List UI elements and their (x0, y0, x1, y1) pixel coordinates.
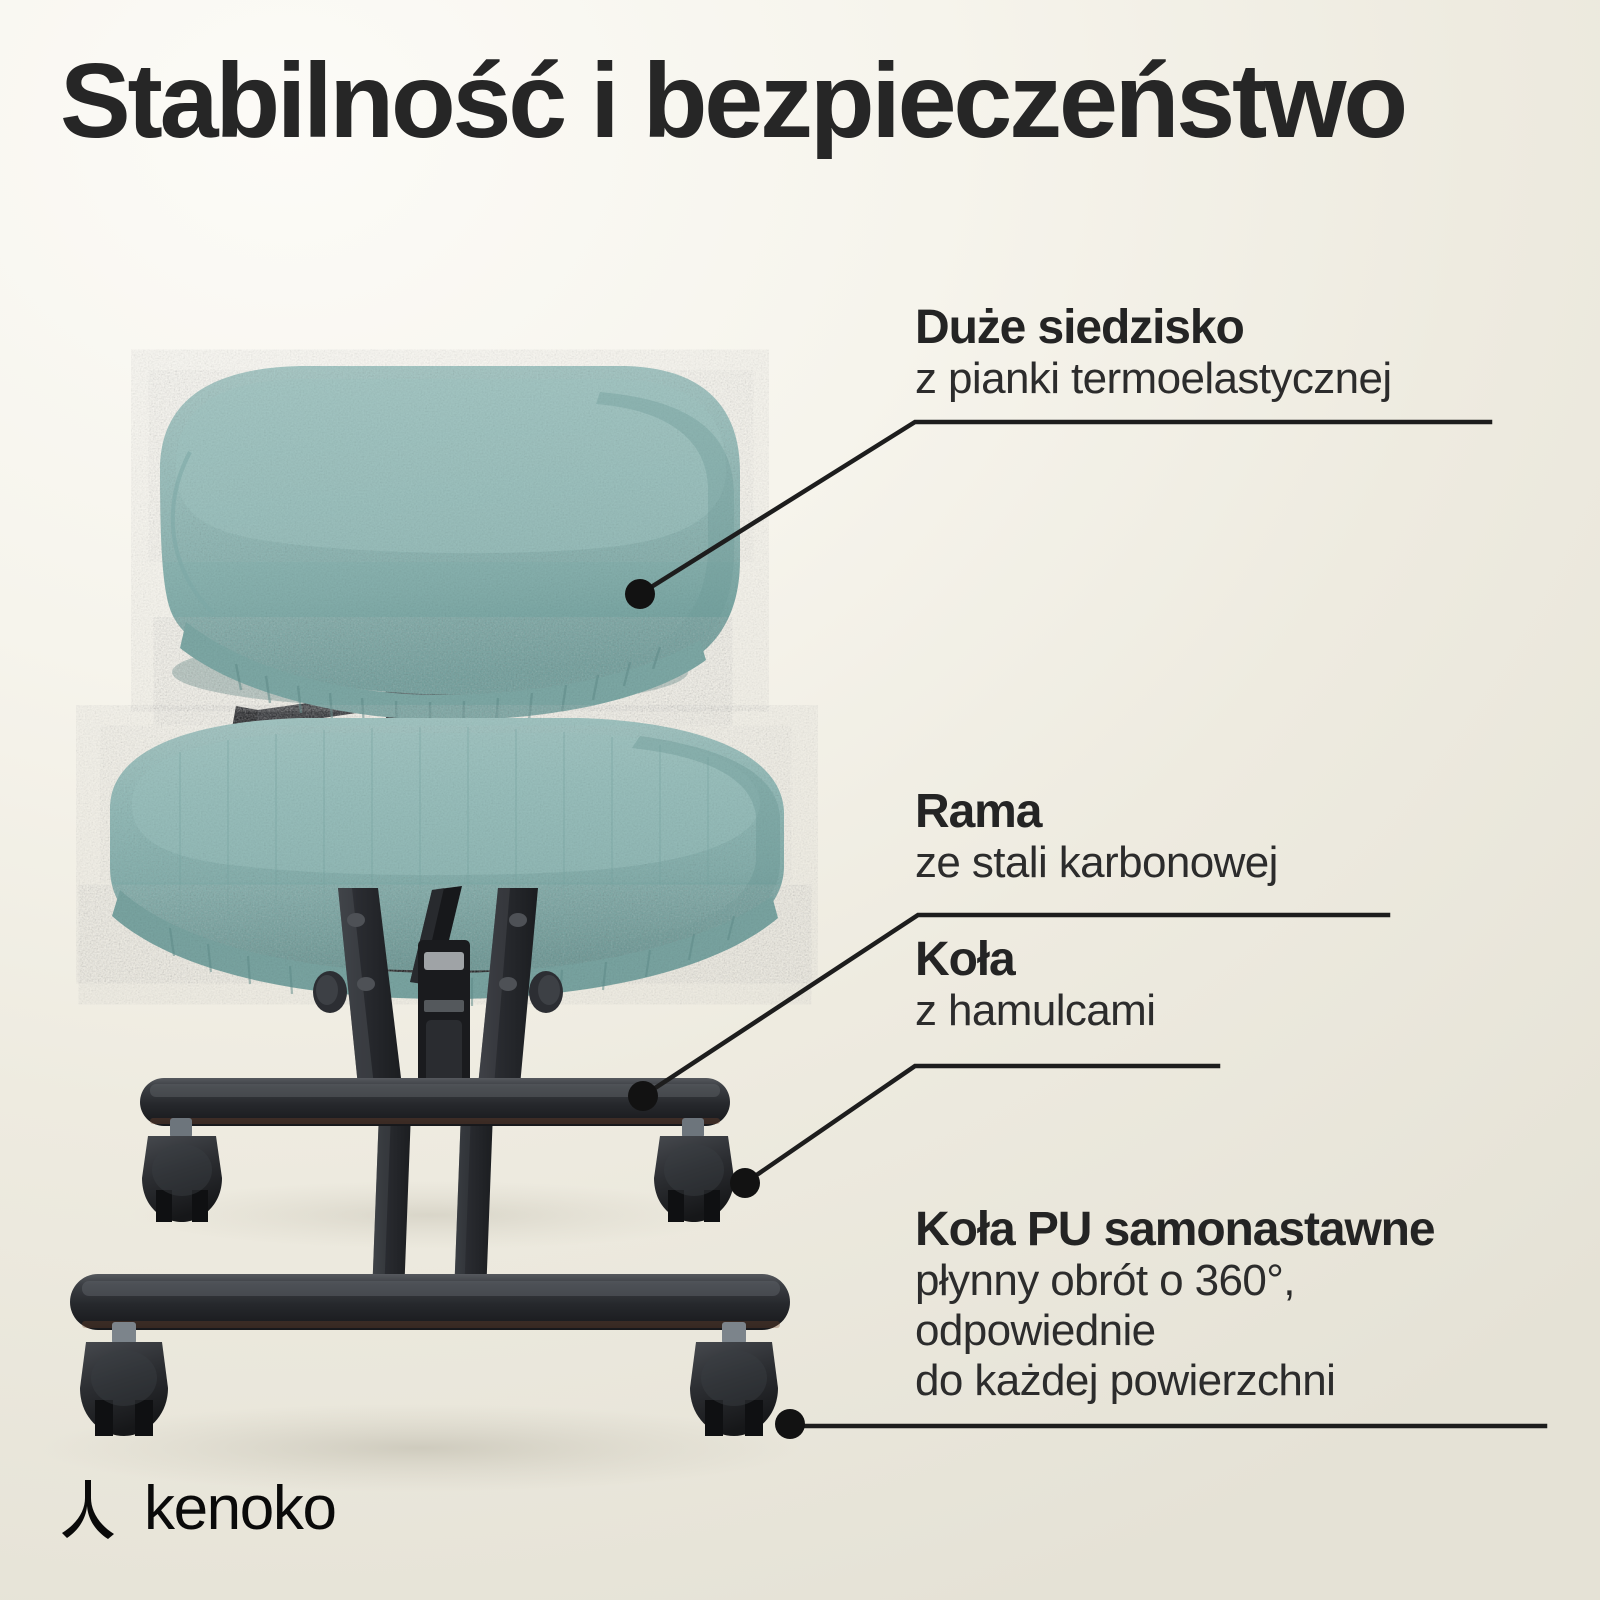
leader-dot-pu (775, 1409, 805, 1439)
chair-frame-brackets (313, 886, 563, 1296)
rear-base-tube (140, 1078, 730, 1126)
knee-pad-underside (168, 880, 730, 999)
callout-seat: Duże siedzisko z pianki termoelastycznej (915, 303, 1392, 403)
callout-frame: Rama ze stali karbonowej (915, 787, 1278, 887)
callout-pu: Koła PU samonastawne płynny obrót o 360°… (915, 1205, 1435, 1406)
seat-cushion (160, 366, 740, 730)
caster-rear-left (142, 1118, 222, 1222)
front-base-tube (70, 1274, 790, 1330)
leader-dot-wheels (730, 1168, 760, 1198)
page-title: Stabilność i bezpieczeństwo (60, 48, 1560, 154)
poster-canvas: Stabilność i bezpieczeństwo Duże siedzis… (0, 0, 1600, 1600)
chair-center-column (232, 668, 504, 764)
leader-dot-frame (628, 1081, 658, 1111)
callout-seat-title: Duże siedzisko (915, 303, 1392, 354)
leader-line-seat (640, 422, 1490, 594)
caster-rear-right (654, 1118, 734, 1222)
person-glyph-icon (62, 1478, 118, 1540)
knee-cushion (110, 718, 784, 1006)
callout-wheels: Koła z hamulcami (915, 935, 1155, 1035)
leader-line-wheels (745, 1066, 1218, 1183)
callout-pu-subtitle-line-2: odpowiednie (915, 1306, 1435, 1356)
callout-pu-subtitle-line-1: płynny obrót o 360°, (915, 1256, 1435, 1306)
brand-name: kenoko (144, 1478, 336, 1540)
callout-seat-subtitle: z pianki termoelastycznej (915, 354, 1392, 403)
callout-pu-title: Koła PU samonastawne (915, 1205, 1435, 1256)
brand-logo: kenoko (62, 1478, 336, 1540)
callout-wheels-title: Koła (915, 935, 1155, 986)
callout-frame-title: Rama (915, 787, 1278, 838)
callout-frame-subtitle: ze stali karbonowej (915, 838, 1278, 887)
leader-dot-seat (625, 579, 655, 609)
caster-front-left (80, 1322, 168, 1436)
callout-wheels-subtitle: z hamulcami (915, 986, 1155, 1035)
caster-front-right (690, 1322, 778, 1436)
callout-pu-subtitle-line-3: do każdej powierzchni (915, 1356, 1435, 1406)
